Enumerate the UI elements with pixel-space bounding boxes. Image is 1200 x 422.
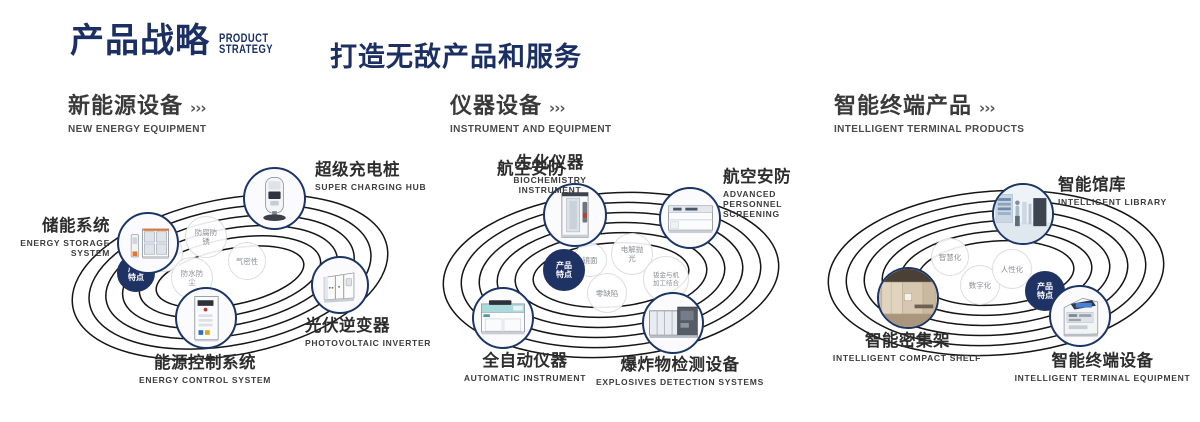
- page-title: 产品战略: [70, 24, 210, 58]
- self-service-kiosk-icon: [1051, 287, 1109, 345]
- label-en: INTELLIGENT LIBRARY: [1058, 197, 1167, 207]
- control-cabinet-icon: [177, 289, 235, 347]
- feature-bubble-anticorrosion: 防腐防锈: [185, 216, 227, 258]
- screening-machine-icon: [661, 189, 719, 247]
- section-title-en-2: INTELLIGENT TERMINAL PRODUCTS: [834, 124, 1024, 135]
- label-en: INTELLIGENT TERMINAL EQUIPMENT: [995, 373, 1200, 383]
- label-en: ENERGY CONTROL SYSTEM: [85, 375, 325, 385]
- battery-cabinet-icon: [119, 214, 177, 272]
- label-en: BIOCHEMISTRY INSTRUMENT: [490, 175, 610, 195]
- feature-bubble-label: 电解抛光: [619, 245, 645, 263]
- feature-bubble-airtight: 气密性: [228, 242, 266, 280]
- product-strategy-infographic: 产品战略 PRODUCT STRATEGY 打造无敌产品和服务 新能源设备›››…: [0, 0, 1200, 422]
- charging-pile-icon: [245, 169, 304, 228]
- section-title-text-1: 仪器设备: [450, 94, 542, 119]
- label-en: ENERGY STORAGE SYSTEM: [0, 238, 110, 258]
- label-en: INTELLIGENT COMPACT SHELF: [832, 353, 982, 363]
- label-cn: 智能馆库: [1058, 177, 1167, 194]
- page-title-en: PRODUCT STRATEGY: [219, 34, 273, 56]
- page-subtitle: 打造无敌产品和服务: [330, 35, 582, 74]
- feature-bubble-label: 数字化: [969, 281, 992, 290]
- label-en: SUPER CHARGING HUB: [315, 182, 426, 192]
- label-cn: 光伏逆变器: [305, 318, 431, 335]
- section-title-en-1: INSTRUMENT AND EQUIPMENT: [450, 124, 611, 135]
- chevron-right-icon: ›››: [190, 99, 206, 117]
- section-title-text-2: 智能终端产品: [834, 94, 972, 119]
- label-intelligent-compact-shelf: 智能密集架 INTELLIGENT COMPACT SHELF: [810, 333, 1005, 363]
- node-advanced-personnel-screening[interactable]: [659, 187, 721, 249]
- inverter-cabinet-icon: [313, 258, 367, 312]
- feature-bubble-label: 防水防尘: [179, 269, 205, 287]
- section-title-cn-1: 仪器设备›››: [450, 96, 611, 118]
- feature-bubble-label: 气密性: [236, 257, 259, 266]
- section-title-cn-0: 新能源设备›››: [68, 96, 206, 118]
- chevron-right-icon: ›››: [549, 99, 565, 117]
- label-cn: 爆炸物检测设备: [555, 357, 805, 374]
- label-cn: 生化仪器: [465, 155, 635, 172]
- node-explosives-detection[interactable]: [642, 292, 704, 354]
- label-en: EXPLOSIVES DETECTION SYSTEMS: [555, 377, 805, 387]
- core-bubble-line2: 特点: [128, 273, 144, 283]
- node-intelligent-library[interactable]: [992, 183, 1054, 245]
- cluster-new-energy: 户外 防腐防锈 防水防尘 气密性 产品 特点: [40, 155, 420, 395]
- core-bubble-product-features: 产品 特点: [543, 249, 585, 291]
- label-cn: 智能密集架: [810, 333, 1005, 350]
- feature-bubble-label: 智慧化: [939, 253, 962, 262]
- label-energy-storage-system: 储能系统 ENERGY STORAGE SYSTEM: [0, 218, 110, 258]
- page-header: 产品战略 PRODUCT STRATEGY: [70, 24, 285, 58]
- section-title-cn-2: 智能终端产品›››: [834, 96, 1024, 118]
- chevron-right-icon: ›››: [979, 99, 995, 117]
- feature-bubble-zero-defect: 零缺陷: [587, 273, 627, 313]
- label-energy-control-system: 能源控制系统 ENERGY CONTROL SYSTEM: [85, 355, 325, 385]
- node-energy-control-system[interactable]: [175, 287, 237, 349]
- library-room-icon: [994, 185, 1052, 243]
- feature-bubble-label: 零缺陷: [596, 289, 619, 298]
- label-en: PHOTOVOLTAIC INVERTER: [305, 338, 431, 348]
- core-bubble-line2: 特点: [556, 270, 572, 280]
- node-automatic-instrument[interactable]: [472, 287, 534, 349]
- label-cn: 智能终端设备: [995, 353, 1200, 370]
- feature-bubble-label: 防腐防锈: [193, 228, 219, 246]
- node-energy-storage-system[interactable]: [117, 212, 179, 274]
- node-intelligent-terminal-equipment[interactable]: [1049, 285, 1111, 347]
- node-super-charging-hub[interactable]: [243, 167, 306, 230]
- label-intelligent-terminal-equipment: 智能终端设备 INTELLIGENT TERMINAL EQUIPMENT: [995, 353, 1200, 383]
- label-cn: 储能系统: [0, 218, 110, 235]
- label-biochemistry-instrument: 生化仪器 BIOCHEMISTRY INSTRUMENT: [465, 155, 635, 195]
- node-intelligent-compact-shelf[interactable]: [877, 267, 939, 329]
- cluster-instrument: 镜面 电解抛光 钣金与机加工结合 零缺陷 产品 特点 航空安防: [415, 155, 815, 395]
- label-cn: 能源控制系统: [85, 355, 325, 372]
- label-explosives-detection: 爆炸物检测设备 EXPLOSIVES DETECTION SYSTEMS: [555, 357, 805, 387]
- feature-bubble-label: 钣金与机加工结合: [650, 271, 682, 287]
- section-heading-intelligent: 智能终端产品››› INTELLIGENT TERMINAL PRODUCTS: [834, 96, 1024, 135]
- section-title-en-0: NEW ENERGY EQUIPMENT: [68, 124, 206, 135]
- feature-bubble-label: 镜面: [583, 256, 598, 265]
- automatic-analyzer-icon: [474, 289, 532, 347]
- label-intelligent-library: 智能馆库 INTELLIGENT LIBRARY: [1058, 177, 1167, 207]
- cluster-intelligent-terminal: 智慧化 数字化 人性化 产品 特点: [800, 155, 1200, 395]
- node-photovoltaic-inverter[interactable]: [311, 256, 369, 314]
- section-heading-new-energy: 新能源设备››› NEW ENERGY EQUIPMENT: [68, 96, 206, 135]
- section-heading-instrument: 仪器设备››› INSTRUMENT AND EQUIPMENT: [450, 96, 611, 135]
- page-title-en-line2: STRATEGY: [219, 45, 273, 56]
- label-photovoltaic-inverter: 光伏逆变器 PHOTOVOLTAIC INVERTER: [305, 318, 431, 348]
- explosives-detector-icon: [644, 294, 702, 352]
- compact-shelf-icon: [879, 269, 937, 327]
- feature-bubble-label: 人性化: [1001, 265, 1024, 274]
- section-title-text-0: 新能源设备: [68, 94, 183, 119]
- core-bubble-line1: 产品: [556, 261, 572, 271]
